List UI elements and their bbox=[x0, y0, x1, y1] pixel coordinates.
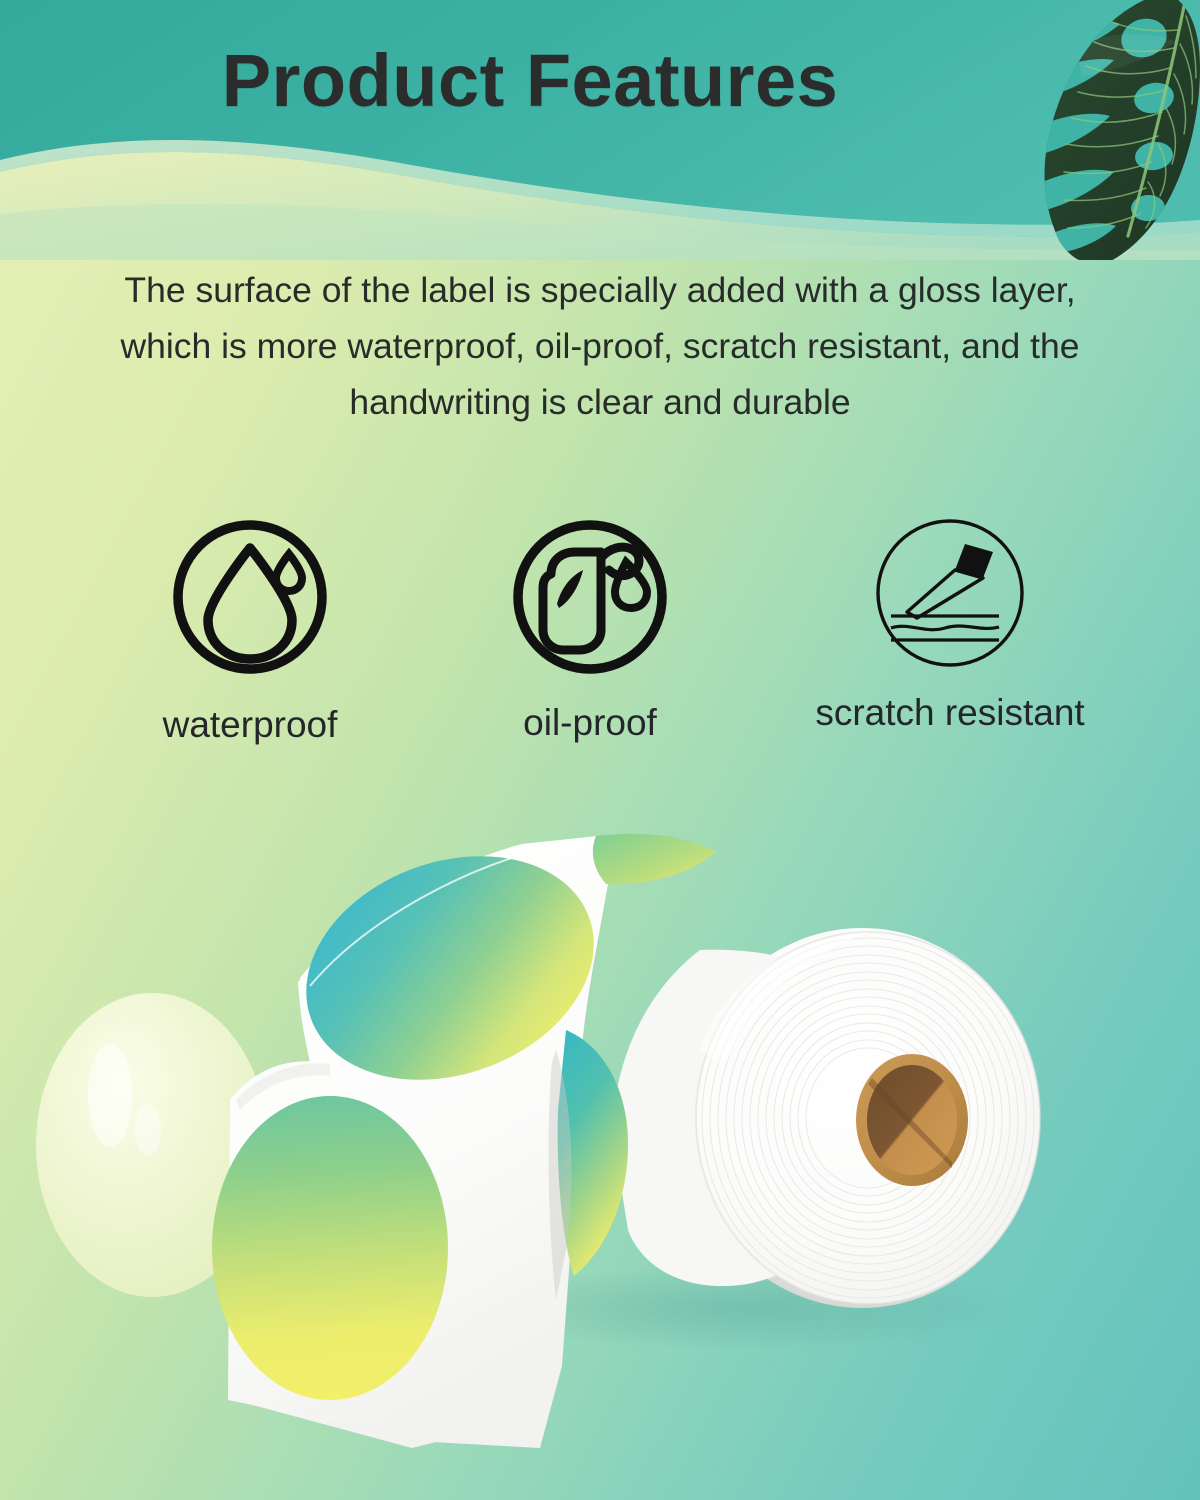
water-drop-circle-icon bbox=[165, 512, 335, 682]
product-feature-page: Product Features bbox=[0, 0, 1200, 1500]
feature-label: waterproof bbox=[110, 704, 390, 746]
gradient-label-front bbox=[212, 1096, 448, 1400]
feature-list: waterproof oil-proof bbox=[0, 512, 1200, 772]
product-photo bbox=[0, 800, 1200, 1500]
oil-jug-circle-icon bbox=[505, 512, 675, 682]
description-text: The surface of the label is specially ad… bbox=[100, 262, 1100, 430]
monstera-leaf-icon bbox=[1016, 0, 1200, 260]
feature-label: scratch resistant bbox=[750, 692, 1150, 734]
header-band: Product Features bbox=[0, 0, 1200, 260]
gradient-label-peek bbox=[593, 834, 716, 884]
feature-item-oil-proof: oil-proof bbox=[440, 512, 740, 744]
product-photo-illustration bbox=[0, 800, 1200, 1500]
page-title: Product Features bbox=[0, 38, 1060, 123]
feature-item-scratch-resistant: scratch resistant bbox=[750, 512, 1150, 734]
roll-kraft-core bbox=[856, 1054, 968, 1186]
feature-label: oil-proof bbox=[440, 702, 740, 744]
feature-item-waterproof: waterproof bbox=[110, 512, 390, 746]
knife-scratch-circle-icon bbox=[869, 512, 1031, 674]
